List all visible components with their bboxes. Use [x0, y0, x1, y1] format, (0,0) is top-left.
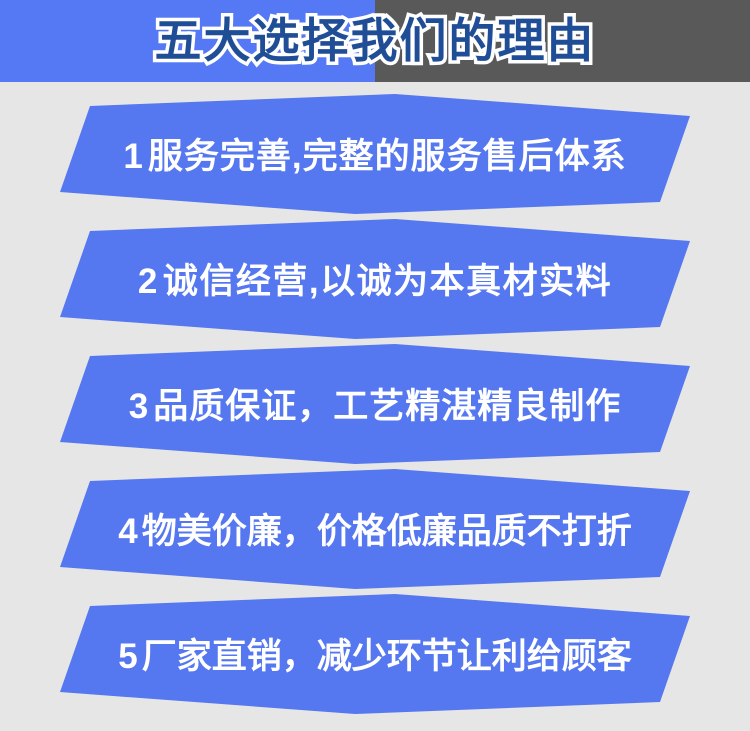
- reason-label-2: 诚信经营,以诚为本真材实料: [163, 264, 612, 299]
- reason-number-1: 1: [123, 139, 143, 174]
- reason-text-3: 3 品质保证，工艺精湛精良制作: [60, 344, 690, 464]
- reason-label-3: 品质保证，工艺精湛精良制作: [153, 389, 621, 424]
- reason-item-1[interactable]: 1 服务完善,完整的服务售后体系: [60, 94, 690, 214]
- reason-item-2[interactable]: 2 诚信经营,以诚为本真材实料: [60, 219, 690, 339]
- reason-number-3: 3: [129, 389, 149, 424]
- reason-label-5: 厂家直销，减少环节让利给顾客: [142, 639, 632, 674]
- reason-item-5[interactable]: 5 厂家直销，减少环节让利给顾客: [60, 594, 690, 714]
- reason-number-5: 5: [118, 639, 137, 674]
- reason-number-2: 2: [138, 264, 159, 299]
- reason-text-1: 1 服务完善,完整的服务售后体系: [60, 94, 690, 214]
- reason-list: 1 服务完善,完整的服务售后体系 2 诚信经营,以诚为本真材实料 3 品质保证，…: [0, 82, 750, 731]
- poster-header: 五大选择我们的理由: [0, 0, 750, 82]
- reason-number-4: 4: [118, 514, 137, 549]
- reason-item-3[interactable]: 3 品质保证，工艺精湛精良制作: [60, 344, 690, 464]
- promo-poster: 五大选择我们的理由 1 服务完善,完整的服务售后体系 2 诚信经营,以诚为本真材…: [0, 0, 750, 731]
- page-title: 五大选择我们的理由: [0, 0, 750, 82]
- reason-label-4: 物美价廉，价格低廉品质不打折: [142, 514, 632, 549]
- reason-text-5: 5 厂家直销，减少环节让利给顾客: [60, 594, 690, 714]
- reason-text-4: 4 物美价廉，价格低廉品质不打折: [60, 469, 690, 589]
- reason-text-2: 2 诚信经营,以诚为本真材实料: [60, 219, 690, 339]
- reason-item-4[interactable]: 4 物美价廉，价格低廉品质不打折: [60, 469, 690, 589]
- reason-label-1: 服务完善,完整的服务售后体系: [148, 139, 627, 174]
